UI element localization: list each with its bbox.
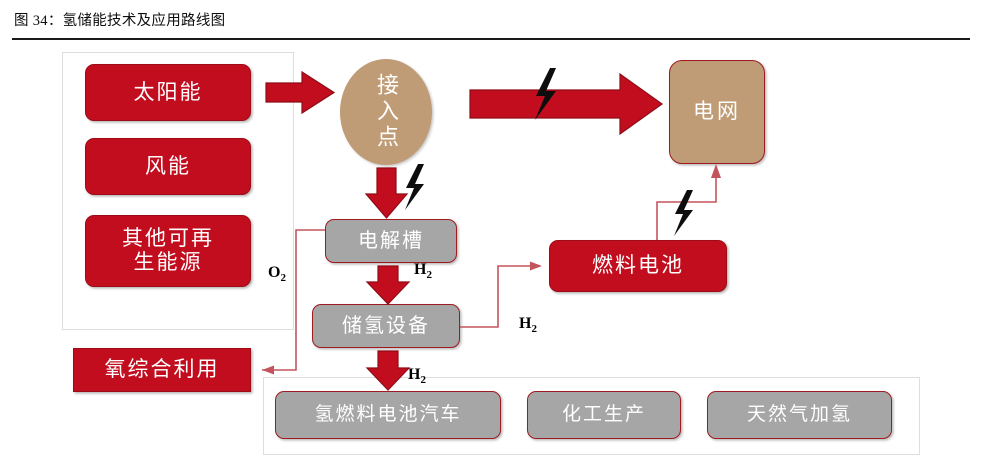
edge-label-h2-b-subscript: 2	[531, 323, 537, 335]
arrow-access-point-to-electrolyzer	[366, 168, 407, 218]
node-hydrogen-storage-label: 储氢设备	[342, 315, 430, 337]
node-hydrogen-storage[interactable]: 储氢设备	[312, 304, 460, 348]
node-other-renewables-label-line2: 生能源	[134, 251, 203, 275]
title-divider	[12, 38, 970, 40]
edge-label-o2: O2	[268, 264, 286, 284]
lightning-bolt-icon-grid-arrow	[535, 68, 556, 120]
node-app-fuel-cell-vehicle[interactable]: 氢燃料电池汽车	[275, 391, 501, 439]
node-access-point[interactable]: 接入点	[340, 59, 432, 165]
edge-label-o2-subscript: 2	[280, 272, 286, 284]
node-other-renewables[interactable]: 其他可再 生能源	[85, 215, 251, 287]
node-wind-energy[interactable]: 风能	[85, 138, 251, 195]
lightning-bolt-icon-electrolyzer	[405, 164, 424, 210]
edge-label-h2-applications: H2	[408, 366, 426, 386]
node-electrolyzer[interactable]: 电解槽	[325, 219, 457, 263]
edge-label-o2-element: O	[268, 264, 280, 281]
node-other-renewables-label-line1: 其他可再	[122, 227, 214, 251]
edge-label-h2-fuelcell: H2	[519, 315, 537, 335]
node-solar-energy-label: 太阳能	[134, 81, 203, 105]
node-app-fuel-cell-vehicle-label: 氢燃料电池汽车	[314, 404, 461, 425]
node-fuel-cell[interactable]: 燃料电池	[549, 240, 727, 292]
node-oxygen-utilization[interactable]: 氧综合利用	[73, 348, 251, 392]
arrow-access-point-to-grid	[470, 74, 662, 134]
node-power-grid[interactable]: 电网	[669, 60, 765, 164]
connector-fuelcell-to-grid	[657, 164, 721, 240]
edge-label-h2-a-element: H	[414, 261, 426, 278]
edge-label-h2-b-element: H	[519, 315, 531, 332]
node-fuel-cell-label: 燃料电池	[592, 254, 684, 278]
node-app-natural-gas-hydrogenation[interactable]: 天然气加氢	[707, 391, 892, 439]
edge-label-h2-c-element: H	[408, 366, 420, 383]
node-access-point-label: 接入点	[375, 73, 397, 151]
arrow-electrolyzer-to-storage	[367, 266, 409, 304]
edge-label-h2-electrolyzer: H2	[414, 261, 432, 281]
node-oxygen-utilization-label: 氧综合利用	[105, 358, 220, 382]
edge-label-h2-a-subscript: 2	[426, 269, 432, 281]
node-electrolyzer-label: 电解槽	[358, 230, 424, 252]
lightning-bolt-icon-fuelcell	[674, 190, 693, 236]
node-app-chemical-production-label: 化工生产	[562, 404, 646, 425]
node-wind-energy-label: 风能	[145, 155, 191, 179]
node-app-chemical-production[interactable]: 化工生产	[527, 391, 681, 439]
node-solar-energy[interactable]: 太阳能	[85, 64, 251, 121]
node-power-grid-label: 电网	[693, 100, 741, 124]
edge-label-h2-c-subscript: 2	[420, 374, 426, 386]
node-app-natural-gas-hydrogenation-label: 天然气加氢	[747, 404, 852, 425]
diagram-canvas: 太阳能 风能 其他可再 生能源 接入点 电网 电解槽 储氢设备 燃料电池 氧综合…	[0, 42, 984, 469]
figure-title: 图 34：氢储能技术及应用路线图	[14, 9, 225, 30]
